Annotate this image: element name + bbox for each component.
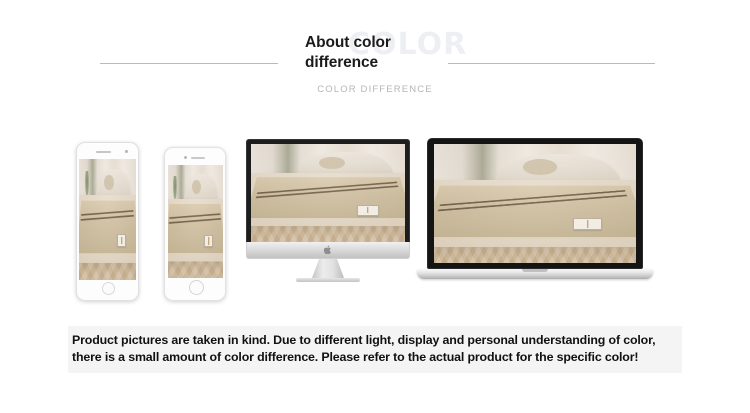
rug-label-tag <box>117 234 126 247</box>
rug-label-tag <box>204 235 213 247</box>
home-button[interactable] <box>189 280 204 295</box>
monitor-chin <box>246 242 410 259</box>
plant-decor <box>173 176 177 201</box>
monitor-stand-foot <box>296 278 360 282</box>
laptop-lid-notch <box>522 269 548 272</box>
area-rug <box>79 195 136 263</box>
plant-decor <box>85 171 90 198</box>
device-smartphone-right <box>164 147 226 301</box>
rug-label-tag <box>573 218 601 231</box>
area-rug <box>434 180 636 247</box>
smartphone-left-screen <box>79 159 136 280</box>
rug-photo-artwork <box>434 144 636 263</box>
rug-inner-field <box>434 185 636 237</box>
device-smartphone-left <box>76 142 139 301</box>
rug-photo-artwork <box>168 165 223 278</box>
rug-inner-field <box>251 178 405 219</box>
monitor-screen <box>251 144 405 242</box>
smartphone-right-screen <box>168 165 223 278</box>
page-title-line1: About color <box>305 34 391 51</box>
disclaimer-banner: Product pictures are taken in kind. Due … <box>68 326 682 373</box>
pillow-shape <box>523 159 557 174</box>
device-showcase <box>0 125 750 315</box>
page-title-line2: difference <box>305 54 378 71</box>
earpiece-speaker-icon <box>96 151 111 153</box>
rug-photo-artwork <box>79 159 136 280</box>
laptop-screen <box>434 144 636 263</box>
monitor-stand-neck <box>312 259 344 278</box>
front-camera-icon <box>125 150 128 153</box>
device-laptop <box>427 138 643 279</box>
page-title-text: About color difference <box>305 33 437 73</box>
rug-label-tag <box>357 205 379 216</box>
area-rug <box>251 173 405 226</box>
earpiece-speaker-icon <box>191 157 205 159</box>
pillow-shape <box>104 175 114 191</box>
area-rug <box>168 199 223 262</box>
laptop-lid <box>427 138 643 269</box>
rug-photo-artwork <box>251 144 405 242</box>
rug-inner-field <box>79 201 136 254</box>
home-button[interactable] <box>102 282 115 295</box>
disclaimer-text: Product pictures are taken in kind. Due … <box>72 332 678 365</box>
apple-logo-icon <box>324 245 333 255</box>
page-subtitle: COLOR DIFFERENCE <box>0 84 750 95</box>
monitor-bezel <box>246 139 410 242</box>
section-header: COLOR About color difference COLOR DIFFE… <box>0 0 750 115</box>
rug-inner-field <box>168 204 223 253</box>
laptop-base <box>417 269 653 279</box>
page-title: About color difference <box>0 33 750 73</box>
front-camera-icon <box>184 156 187 159</box>
device-desktop-monitor <box>246 139 410 282</box>
